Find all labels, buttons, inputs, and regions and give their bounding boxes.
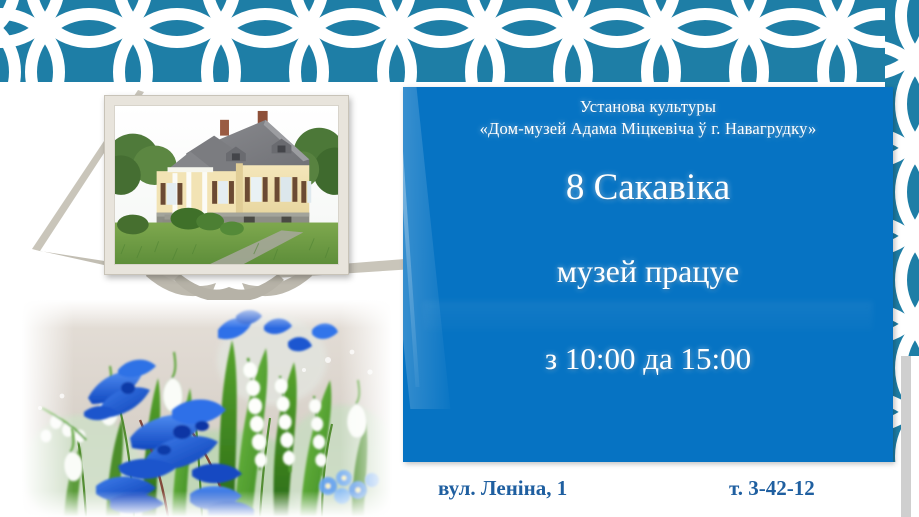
organization-line-1: Установа культуры xyxy=(403,96,893,118)
footer-address: вул. Леніна, 1 xyxy=(438,468,567,508)
house-museum-photo xyxy=(115,106,338,264)
organization-line-2: «Дом-музей Адама Міцкевіча ў г. Навагруд… xyxy=(403,118,893,140)
opening-hours: з 10:00 да 15:00 xyxy=(403,340,893,378)
house-photo-frame xyxy=(104,95,349,275)
event-date: 8 Сакавіка xyxy=(403,166,893,210)
slide-canvas: Установа культуры «Дом-музей Адама Міцке… xyxy=(0,0,919,517)
announcement-panel: Установа культуры «Дом-музей Адама Міцке… xyxy=(403,87,893,462)
overlapping-circles-icon xyxy=(0,0,919,82)
house-photo-inner xyxy=(114,105,339,265)
contact-footer: вул. Леніна, 1 т. 3-42-12 xyxy=(403,468,883,508)
museum-open-label: музей працуе xyxy=(403,252,893,290)
panel-ghost-text-band xyxy=(423,301,873,331)
footer-phone: т. 3-42-12 xyxy=(729,468,815,508)
flowers-image xyxy=(22,300,392,517)
header-decorative-band xyxy=(0,0,919,82)
spring-flowers-photo xyxy=(22,300,392,517)
right-gutter-white xyxy=(911,356,919,517)
